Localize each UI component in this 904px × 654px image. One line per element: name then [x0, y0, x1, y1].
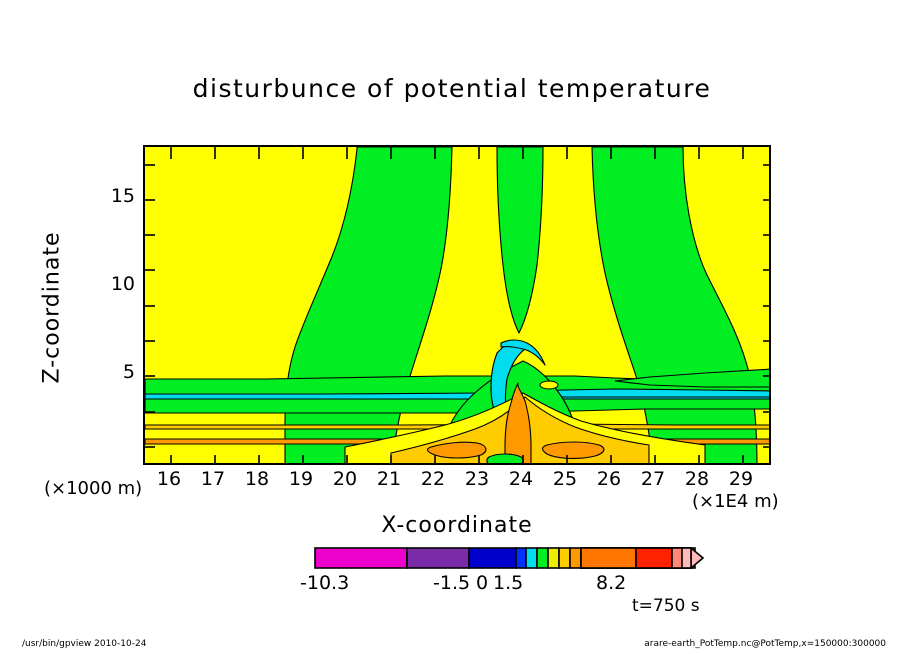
x-tick-label: 26	[589, 468, 629, 490]
x-tick-label: 20	[325, 468, 365, 490]
colorbar-tick-label: -10.3	[300, 572, 349, 594]
colorbar-swatch	[537, 548, 548, 568]
contour-field	[145, 147, 771, 465]
x-tick-label: 28	[677, 468, 717, 490]
x-axis-tick-labels: 16 17 18 19 20 21 22 23 24 25 26 27 28 2…	[143, 468, 771, 494]
x-axis-unit-label: (×1E4 m)	[692, 491, 779, 512]
x-tick-label: 22	[413, 468, 453, 490]
page-title: disturbunce of potential temperature	[0, 74, 904, 103]
colorbar-swatch	[559, 548, 570, 568]
x-tick-label: 18	[237, 468, 277, 490]
x-axis-title: X-coordinate	[143, 513, 771, 538]
x-tick-label: 24	[501, 468, 541, 490]
colorbar	[314, 547, 704, 569]
footer-source-text: arare-earth_PotTemp.nc@PotTemp,x=150000:…	[644, 639, 886, 649]
time-annotation: t=750 s	[632, 596, 700, 616]
colorbar-tick-label: -1.5	[433, 572, 470, 594]
colorbar-swatch	[570, 548, 581, 568]
x-tick-label: 16	[149, 468, 189, 490]
contour-plot-area	[143, 145, 771, 465]
colorbar-swatch	[407, 548, 469, 568]
colorbar-tick-labels: -10.3 -1.5 0 1.5 8.2	[314, 572, 714, 594]
colorbar-tick-label: 0	[476, 572, 488, 594]
colorbar-swatch	[548, 548, 559, 568]
x-tick-label: 17	[193, 468, 233, 490]
colorbar-tick-label: 1.5	[493, 572, 523, 594]
x-tick-label: 19	[281, 468, 321, 490]
z-axis-unit-label: (×1000 m)	[44, 478, 142, 499]
colorbar-arrow-end	[691, 548, 703, 568]
y-axis-tick-labels: 15 10 5	[85, 145, 135, 465]
colorbar-swatch	[516, 548, 526, 568]
x-tick-label: 29	[721, 468, 761, 490]
colorbar-swatch	[469, 548, 516, 568]
footer-command-text: /usr/bin/gpview 2010-10-24	[22, 639, 146, 649]
colorbar-tick-label: 8.2	[596, 572, 626, 594]
colorbar-swatch	[315, 548, 407, 568]
y-tick-label: 10	[95, 273, 135, 295]
colorbar-swatch	[526, 548, 537, 568]
y-tick-label: 5	[95, 361, 135, 383]
x-tick-label: 27	[633, 468, 673, 490]
colorbar-swatches	[314, 547, 704, 569]
y-tick-label: 15	[95, 185, 135, 207]
x-tick-label: 21	[369, 468, 409, 490]
x-tick-label: 25	[545, 468, 585, 490]
x-tick-label: 23	[457, 468, 497, 490]
y-axis-title: Z-coordinate	[40, 208, 65, 408]
